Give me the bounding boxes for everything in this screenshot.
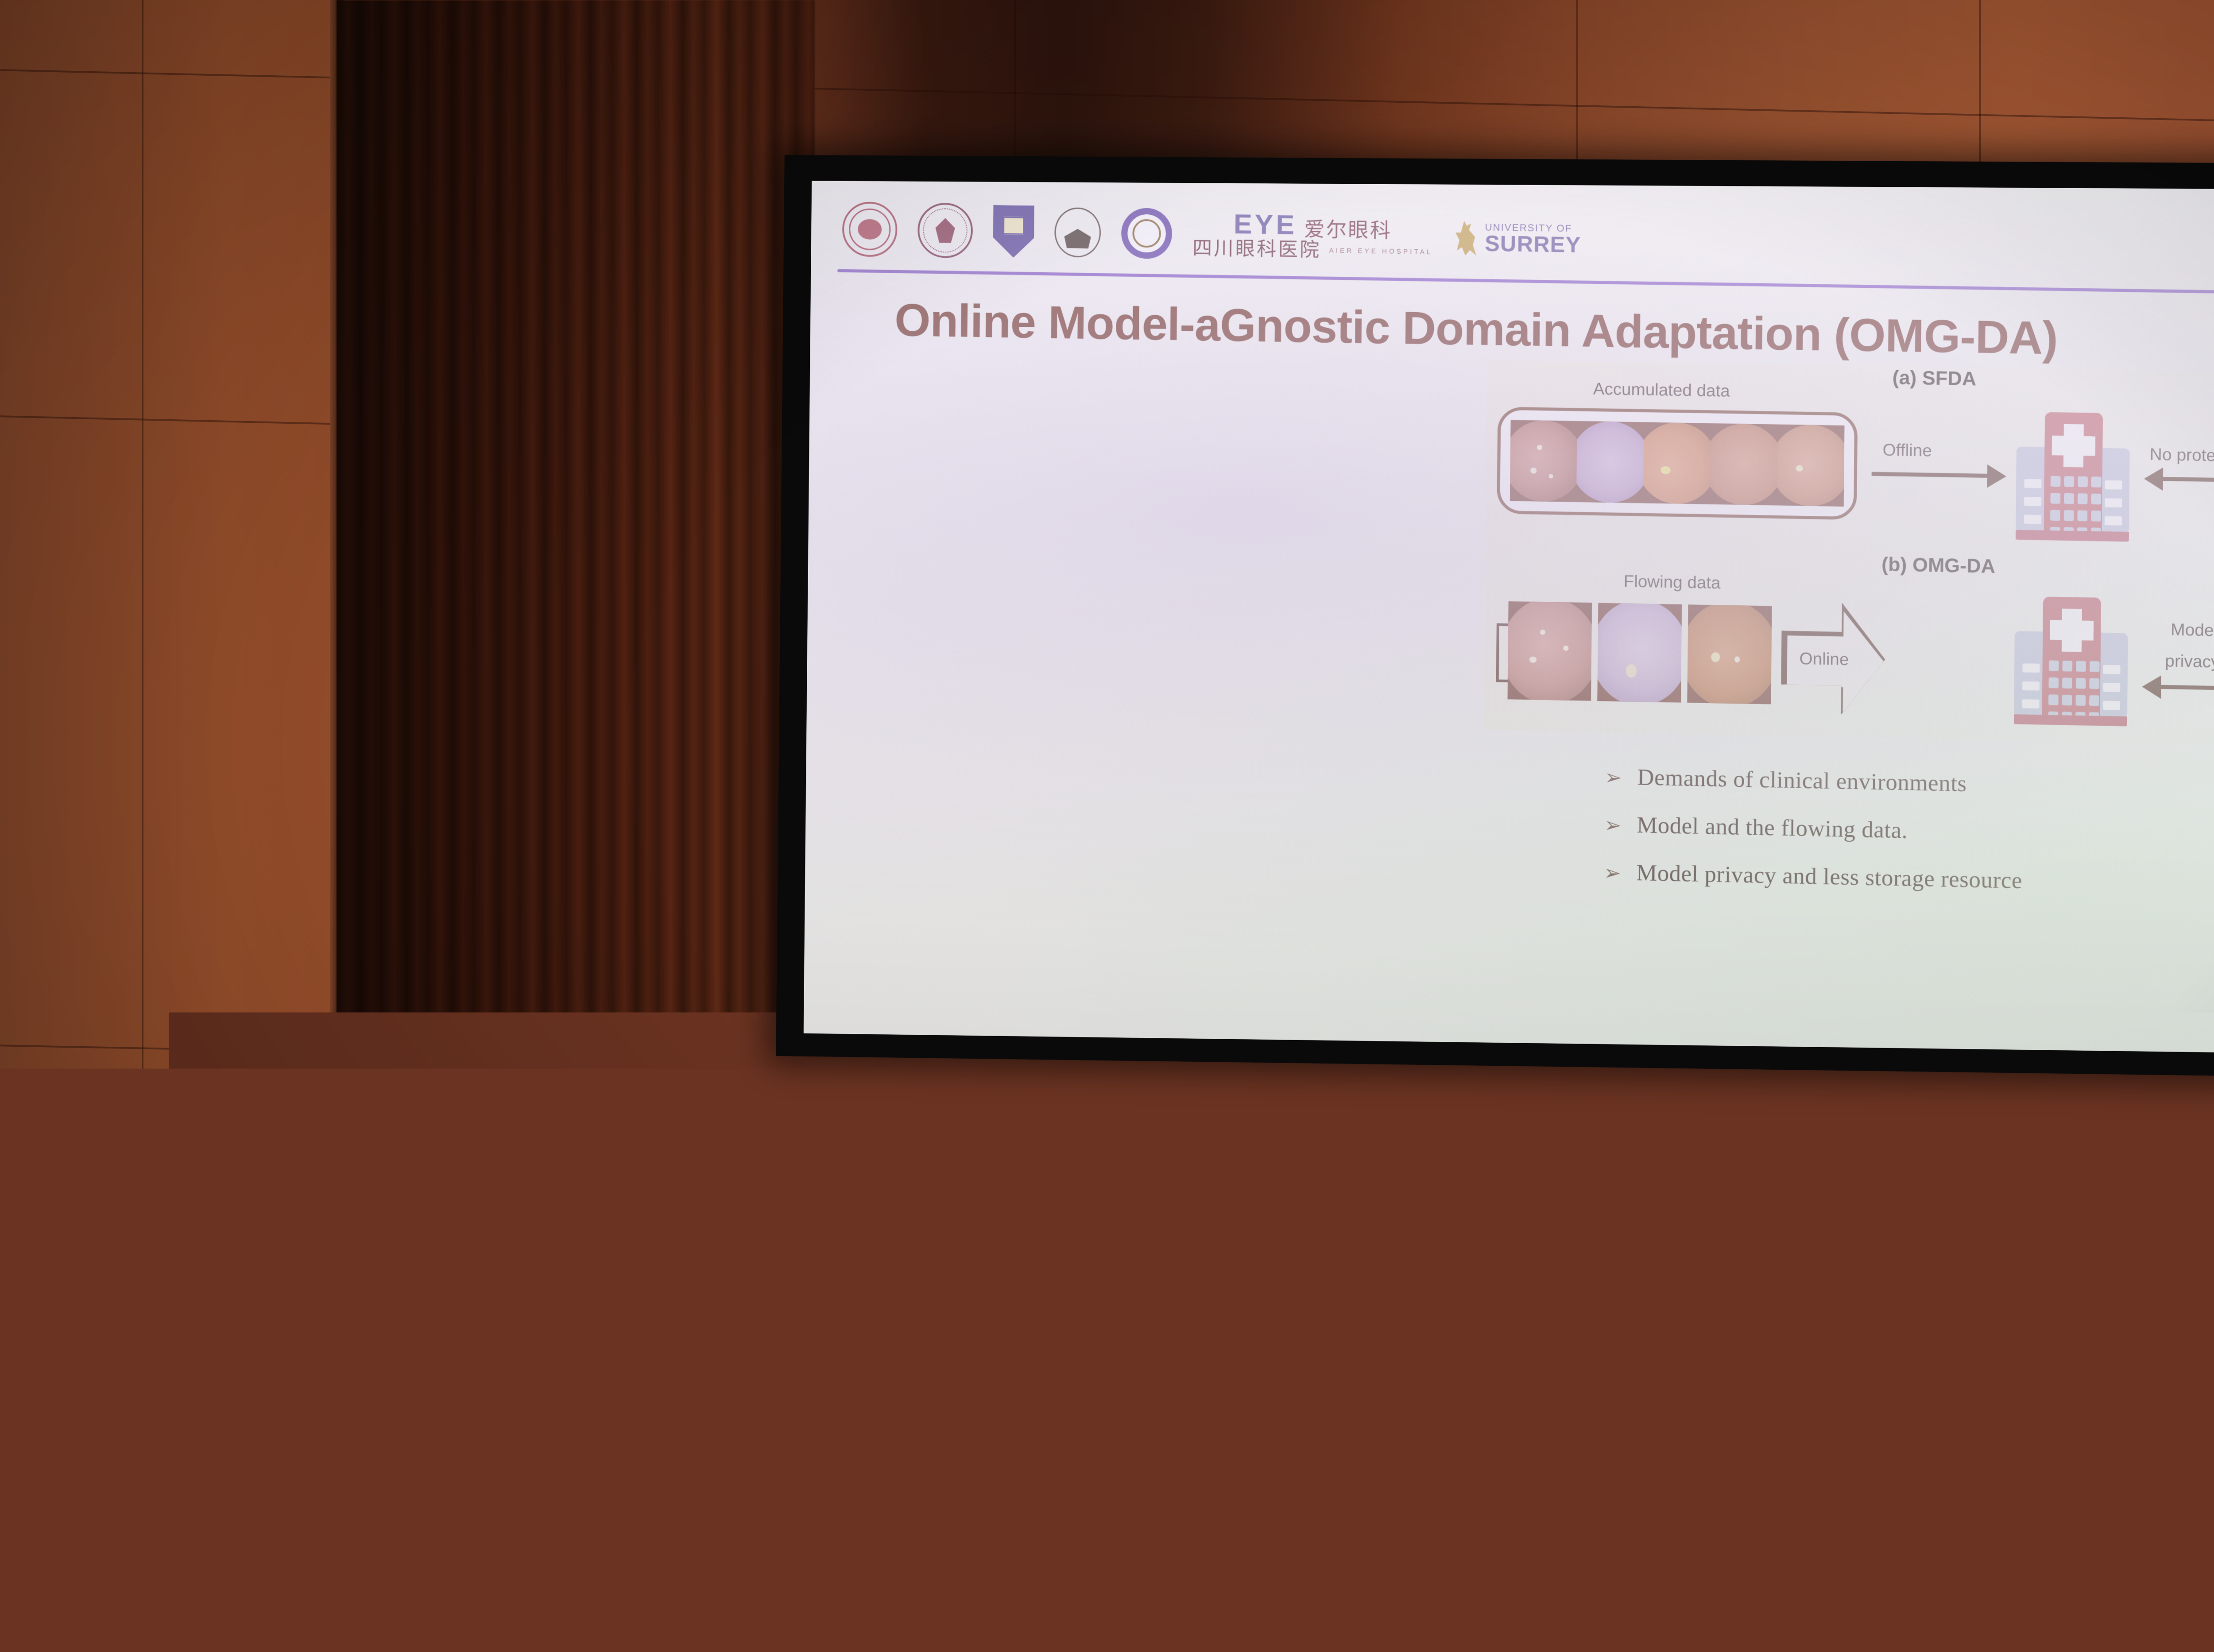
bullet-marker-icon: ➢ [1604,815,1622,836]
bullet-text: Model privacy and less storage resource [1636,860,2022,894]
bullet-text: Demands of clinical environments [1637,764,1967,797]
uestc-circle-crest-logo [1121,208,1173,259]
no-protection-arrow-head [2144,467,2164,491]
model-privacy-arrow-shaft [2161,685,2214,692]
bullet-text: Model and the flowing data. [1637,812,1908,844]
floor-anchor-left [1769,1530,1795,1541]
model-privacy-arrow-head [2142,675,2161,699]
offline-arrow-shaft [1872,472,1987,478]
accumulated-data-container [1497,407,1858,520]
aier-eye-hospital-logo: EYE 爱尔眼科 四川眼科医院 AIER EYE HOSPITAL [1192,210,1433,262]
panel-a-offline-label: Offline [1882,441,1932,460]
list-item: ➢ Model and the flowing data. [1604,811,2023,846]
panel-a-section-label: (a) SFDA [1892,367,1976,391]
slide-bullet-list: ➢ Demands of clinical environments ➢ Mod… [1603,764,2023,916]
surrey-line2: SURREY [1485,232,1581,256]
aier-chinese-name-2: 四川眼科医院 [1192,239,1321,260]
list-item: ➢ Demands of clinical environments [1605,764,2024,798]
slide-canvas: EYE 爱尔眼科 四川眼科医院 AIER EYE HOSPITAL UNIVER… [804,181,2214,1060]
panel-b-online-label: Online [1799,650,1849,669]
gate-crest-logo [1054,207,1101,258]
bullet-marker-icon: ➢ [1605,767,1622,788]
display-screen[interactable]: EYE 爱尔眼科 四川眼科医院 AIER EYE HOSPITAL UNIVER… [804,181,2214,1060]
microphone-icon [568,1046,590,1083]
presenter-hair-left [494,943,517,1010]
university-seal-2-logo [917,202,973,258]
fundus-image [1510,420,1577,502]
fundus-image [1643,422,1711,504]
ecnu-emblem: EAST CHINA NORMAL UNIVERSITY 华东师范大学 [646,1364,848,1566]
lectern-top [434,1178,974,1275]
fundus-image [1710,423,1778,506]
fundus-image [1507,601,1592,701]
aier-romanized: AIER EYE HOSPITAL [1329,247,1433,255]
hospital-icon [2016,412,2130,548]
ecnu-emblem-ring-text: EAST CHINA NORMAL UNIVERSITY [654,1387,840,1417]
bullet-marker-icon: ➢ [1604,863,1622,883]
offline-arrow-head [1987,464,2006,488]
omg-da-diagram: (a) SFDA Accumulated data [1484,360,2214,752]
aier-eye-mark: EYE [1234,211,1297,239]
surrey-deer-icon [1453,221,1479,255]
panel-a-data-caption: Accumulated data [1593,380,1730,401]
panel-b-section-label: (b) OMG-DA [1881,553,1995,578]
shield-book-crest-logo [993,205,1034,258]
presentation-scene: EYE 爱尔眼科 四川眼科医院 AIER EYE HOSPITAL UNIVER… [0,0,2214,1652]
fundus-image [1597,603,1682,703]
panel-b-data-caption: Flowing data [1623,572,1720,593]
panel-a-no-protection-label: No protection [2150,445,2214,466]
fundus-image [1687,604,1772,704]
shanghai-university-seal-logo [842,201,898,257]
university-of-surrey-logo: UNIVERSITY OF SURREY [1453,221,1581,257]
slide-title: Online Model-aGnostic Domain Adaptation … [894,294,2058,365]
no-protection-arrow-shaft [2163,477,2214,484]
hospital-icon [2014,596,2129,732]
panel-b-privacy-label: privacy [2165,652,2214,672]
list-item: ➢ Model privacy and less storage resourc… [1603,859,2022,894]
sponsor-logo-bar: EYE 爱尔眼科 四川眼科医院 AIER EYE HOSPITAL UNIVER… [842,196,2214,292]
lectern: EAST CHINA NORMAL UNIVERSITY 华东师范大学 [434,1178,974,1652]
panel-b-model-label: Model [2171,620,2214,640]
aier-chinese-name: 爱尔眼科 [1304,219,1392,240]
floor-anchor-right [2010,1508,2036,1519]
ecnu-emblem-chinese: 华东师范大学 [654,1521,840,1547]
fundus-image [1777,424,1845,507]
presentation-display: EYE 爱尔眼科 四川眼科医院 AIER EYE HOSPITAL UNIVER… [776,155,2214,1084]
presenter-hair-right [592,939,616,1014]
fundus-image [1576,421,1644,503]
